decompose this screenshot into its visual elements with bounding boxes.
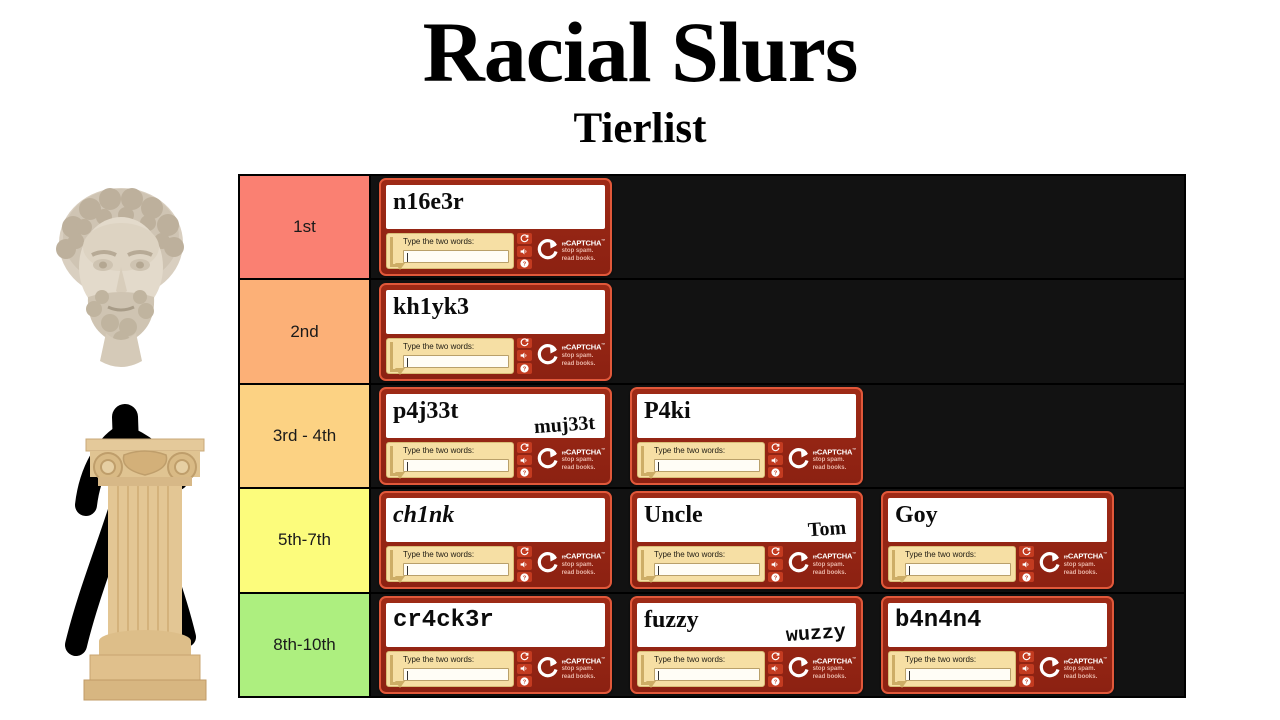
refresh-icon[interactable] xyxy=(517,233,532,244)
svg-text:?: ? xyxy=(1024,575,1028,581)
recaptcha-brand: reCAPTCHA™stop spam.read books. xyxy=(535,338,605,374)
captcha-prompt: Type the two words: xyxy=(403,550,509,560)
recaptcha-tagline-2: read books. xyxy=(562,465,605,472)
refresh-icon[interactable] xyxy=(1019,546,1034,557)
recaptcha-brand: reCAPTCHA™stop spam.read books. xyxy=(786,546,856,582)
captcha-button-column: ? xyxy=(1019,651,1034,687)
bust-head xyxy=(56,188,184,367)
svg-text:?: ? xyxy=(522,575,526,581)
recaptcha-brand: reCAPTCHA™stop spam.read books. xyxy=(786,442,856,478)
help-icon[interactable]: ? xyxy=(1019,572,1034,583)
recaptcha-brand-main: CAPTCHA xyxy=(566,238,601,247)
help-icon[interactable]: ? xyxy=(517,676,532,687)
captcha-prompt: Type the two words: xyxy=(905,655,1011,665)
help-icon[interactable]: ? xyxy=(768,572,783,583)
marble-bust-figure xyxy=(28,175,243,705)
trademark-icon: ™ xyxy=(601,656,605,661)
arrow-icon xyxy=(641,550,650,580)
trademark-icon: ™ xyxy=(1103,656,1107,661)
captcha-image: n16e3r xyxy=(386,185,605,229)
arrow-icon xyxy=(390,446,399,476)
arrow-icon xyxy=(390,655,399,685)
captcha-entry-area: Type the two words: xyxy=(386,233,514,269)
captcha-entry-area: Type the two words: xyxy=(386,546,514,582)
recaptcha-widget[interactable]: n16e3rType the two words:?reCAPTCHA™stop… xyxy=(379,178,612,276)
arrow-icon xyxy=(892,655,901,685)
captcha-button-column: ? xyxy=(768,651,783,687)
captcha-input[interactable] xyxy=(403,459,509,472)
recaptcha-tagline-1: stop spam. xyxy=(562,248,605,255)
captcha-prompt: Type the two words: xyxy=(654,655,760,665)
recaptcha-tagline-1: stop spam. xyxy=(1064,666,1107,673)
captcha-word-secondary: Tom xyxy=(807,517,847,542)
arrow-icon xyxy=(641,655,650,685)
recaptcha-tagline-2: read books. xyxy=(813,570,856,577)
captcha-button-column: ? xyxy=(517,442,532,478)
recaptcha-tagline-2: read books. xyxy=(1064,674,1107,681)
captcha-entry-area: Type the two words: xyxy=(386,338,514,374)
refresh-icon[interactable] xyxy=(517,546,532,557)
recaptcha-c-logo-icon xyxy=(536,344,560,368)
captcha-entry-area: Type the two words: xyxy=(637,546,765,582)
captcha-word-primary: cr4ck3r xyxy=(393,607,494,634)
captcha-entry-area: Type the two words: xyxy=(637,651,765,687)
captcha-button-column: ? xyxy=(1019,546,1034,582)
captcha-button-column: ? xyxy=(517,338,532,374)
recaptcha-widget[interactable]: p4j33tmuj33tType the two words:?reCAPTCH… xyxy=(379,387,612,485)
tier-items: p4j33tmuj33tType the two words:?reCAPTCH… xyxy=(371,385,1184,487)
tier-items: cr4ck3rType the two words:?reCAPTCHA™sto… xyxy=(371,594,1184,696)
audio-icon[interactable] xyxy=(517,455,532,466)
recaptcha-widget[interactable]: fuzzywuzzyType the two words:?reCAPTCHA™… xyxy=(630,596,863,694)
tier-row: 2ndkh1yk3Type the two words:?reCAPTCHA™s… xyxy=(240,280,1184,384)
svg-text:?: ? xyxy=(522,262,526,268)
captcha-image: kh1yk3 xyxy=(386,290,605,334)
tier-label[interactable]: 2nd xyxy=(240,280,371,382)
tier-label[interactable]: 1st xyxy=(240,176,371,278)
recaptcha-widget[interactable]: GoyType the two words:?reCAPTCHA™stop sp… xyxy=(881,491,1114,589)
recaptcha-brand-main: CAPTCHA xyxy=(817,552,852,561)
recaptcha-brand-main: CAPTCHA xyxy=(566,552,601,561)
arrow-icon xyxy=(390,237,399,267)
svg-text:?: ? xyxy=(773,679,777,685)
captcha-controls: Type the two words:?reCAPTCHA™stop spam.… xyxy=(637,651,856,687)
captcha-controls: Type the two words:?reCAPTCHA™stop spam.… xyxy=(386,442,605,478)
trademark-icon: ™ xyxy=(852,551,856,556)
refresh-icon[interactable] xyxy=(517,651,532,662)
page-subtitle: Tierlist xyxy=(0,100,1280,152)
captcha-input[interactable] xyxy=(654,459,760,472)
captcha-word-primary: n16e3r xyxy=(393,189,464,216)
recaptcha-brand-main: CAPTCHA xyxy=(566,656,601,665)
captcha-controls: Type the two words:?reCAPTCHA™stop spam.… xyxy=(888,546,1107,582)
audio-icon[interactable] xyxy=(1019,559,1034,570)
captcha-controls: Type the two words:?reCAPTCHA™stop spam.… xyxy=(386,651,605,687)
captcha-button-column: ? xyxy=(768,546,783,582)
recaptcha-brand: reCAPTCHA™stop spam.read books. xyxy=(1037,651,1107,687)
tierlist-screenshot: Racial Slurs Tierlist xyxy=(0,0,1280,720)
svg-text:?: ? xyxy=(522,366,526,372)
recaptcha-c-logo-icon xyxy=(536,552,560,576)
tier-items: n16e3rType the two words:?reCAPTCHA™stop… xyxy=(371,176,1184,278)
recaptcha-tagline-2: read books. xyxy=(562,570,605,577)
captcha-word-primary: fuzzy xyxy=(644,607,699,634)
recaptcha-brand-main: CAPTCHA xyxy=(566,343,601,352)
audio-icon[interactable] xyxy=(517,246,532,257)
captcha-controls: Type the two words:?reCAPTCHA™stop spam.… xyxy=(637,442,856,478)
trademark-icon: ™ xyxy=(601,551,605,556)
captcha-word-secondary: muj33t xyxy=(533,412,596,438)
captcha-controls: Type the two words:?reCAPTCHA™stop spam.… xyxy=(386,233,605,269)
trademark-icon: ™ xyxy=(1103,551,1107,556)
captcha-prompt: Type the two words: xyxy=(403,655,509,665)
captcha-entry-area: Type the two words: xyxy=(637,442,765,478)
captcha-prompt: Type the two words: xyxy=(654,446,760,456)
recaptcha-tagline-2: read books. xyxy=(562,256,605,263)
recaptcha-brand-main: CAPTCHA xyxy=(1068,552,1103,561)
tier-label[interactable]: 3rd - 4th xyxy=(240,385,371,487)
captcha-input[interactable] xyxy=(654,668,760,681)
recaptcha-c-logo-icon xyxy=(787,552,811,576)
recaptcha-c-logo-icon xyxy=(536,448,560,472)
recaptcha-tagline-1: stop spam. xyxy=(562,666,605,673)
audio-icon[interactable] xyxy=(768,559,783,570)
captcha-input[interactable] xyxy=(403,563,509,576)
captcha-prompt: Type the two words: xyxy=(403,446,509,456)
captcha-button-column: ? xyxy=(517,233,532,269)
recaptcha-c-logo-icon xyxy=(536,239,560,263)
recaptcha-brand: reCAPTCHA™stop spam.read books. xyxy=(1037,546,1107,582)
captcha-image: UncleTom xyxy=(637,498,856,542)
audio-icon[interactable] xyxy=(768,455,783,466)
recaptcha-brand: reCAPTCHA™stop spam.read books. xyxy=(535,442,605,478)
recaptcha-brand-main: CAPTCHA xyxy=(817,656,852,665)
help-icon[interactable]: ? xyxy=(517,467,532,478)
svg-text:?: ? xyxy=(773,575,777,581)
tier-items: kh1yk3Type the two words:?reCAPTCHA™stop… xyxy=(371,280,1184,382)
captcha-word-primary: kh1yk3 xyxy=(393,294,469,321)
trademark-icon: ™ xyxy=(601,342,605,347)
arrow-icon xyxy=(390,342,399,372)
captcha-image: b4n4n4 xyxy=(888,603,1107,647)
recaptcha-brand: reCAPTCHA™stop spam.read books. xyxy=(535,546,605,582)
recaptcha-c-logo-icon xyxy=(787,657,811,681)
audio-icon[interactable] xyxy=(517,664,532,675)
recaptcha-tagline-1: stop spam. xyxy=(813,562,856,569)
recaptcha-tagline-2: read books. xyxy=(813,465,856,472)
captcha-image: ch1nk xyxy=(386,498,605,542)
captcha-controls: Type the two words:?reCAPTCHA™stop spam.… xyxy=(637,546,856,582)
captcha-controls: Type the two words:?reCAPTCHA™stop spam.… xyxy=(386,338,605,374)
help-icon[interactable]: ? xyxy=(768,467,783,478)
svg-text:?: ? xyxy=(522,471,526,477)
refresh-icon[interactable] xyxy=(1019,651,1034,662)
captcha-button-column: ? xyxy=(517,546,532,582)
captcha-input[interactable] xyxy=(905,563,1011,576)
captcha-image: p4j33tmuj33t xyxy=(386,394,605,438)
help-icon[interactable]: ? xyxy=(768,676,783,687)
captcha-entry-area: Type the two words: xyxy=(888,651,1016,687)
captcha-image: fuzzywuzzy xyxy=(637,603,856,647)
recaptcha-widget[interactable]: UncleTomType the two words:?reCAPTCHA™st… xyxy=(630,491,863,589)
recaptcha-brand-main: CAPTCHA xyxy=(817,447,852,456)
recaptcha-tagline-2: read books. xyxy=(813,674,856,681)
tier-row: 5th-7thch1nkType the two words:?reCAPTCH… xyxy=(240,489,1184,593)
captcha-input[interactable] xyxy=(403,250,509,263)
tier-row: 8th-10thcr4ck3rType the two words:?reCAP… xyxy=(240,594,1184,696)
recaptcha-brand-main: CAPTCHA xyxy=(1068,656,1103,665)
arrow-icon xyxy=(892,550,901,580)
recaptcha-widget[interactable]: kh1yk3Type the two words:?reCAPTCHA™stop… xyxy=(379,283,612,381)
refresh-icon[interactable] xyxy=(768,442,783,453)
refresh-icon[interactable] xyxy=(517,442,532,453)
recaptcha-c-logo-icon xyxy=(787,448,811,472)
recaptcha-brand-main: CAPTCHA xyxy=(566,447,601,456)
help-icon[interactable]: ? xyxy=(517,259,532,270)
svg-text:?: ? xyxy=(522,679,526,685)
captcha-input[interactable] xyxy=(403,668,509,681)
captcha-word-primary: Goy xyxy=(895,502,938,529)
recaptcha-widget[interactable]: ch1nkType the two words:?reCAPTCHA™stop … xyxy=(379,491,612,589)
recaptcha-tagline-1: stop spam. xyxy=(813,666,856,673)
refresh-icon[interactable] xyxy=(768,651,783,662)
captcha-image: P4ki xyxy=(637,394,856,438)
tier-items: ch1nkType the two words:?reCAPTCHA™stop … xyxy=(371,489,1184,591)
trademark-icon: ™ xyxy=(601,238,605,243)
captcha-prompt: Type the two words: xyxy=(403,237,509,247)
page-title: Racial Slurs xyxy=(0,0,1280,100)
trademark-icon: ™ xyxy=(852,656,856,661)
tier-row: 3rd - 4thp4j33tmuj33tType the two words:… xyxy=(240,385,1184,489)
recaptcha-brand: reCAPTCHA™stop spam.read books. xyxy=(535,233,605,269)
captcha-entry-area: Type the two words: xyxy=(386,651,514,687)
captcha-input[interactable] xyxy=(403,355,509,368)
captcha-input[interactable] xyxy=(654,563,760,576)
recaptcha-tagline-1: stop spam. xyxy=(562,562,605,569)
captcha-word-primary: ch1nk xyxy=(393,502,454,529)
tier-label[interactable]: 8th-10th xyxy=(240,594,371,696)
captcha-controls: Type the two words:?reCAPTCHA™stop spam.… xyxy=(888,651,1107,687)
recaptcha-brand: reCAPTCHA™stop spam.read books. xyxy=(786,651,856,687)
help-icon[interactable]: ? xyxy=(1019,676,1034,687)
help-icon[interactable]: ? xyxy=(517,363,532,374)
captcha-word-primary: b4n4n4 xyxy=(895,607,981,634)
captcha-entry-area: Type the two words: xyxy=(888,546,1016,582)
refresh-icon[interactable] xyxy=(517,338,532,349)
help-icon[interactable]: ? xyxy=(517,572,532,583)
captcha-word-primary: p4j33t xyxy=(393,398,458,425)
recaptcha-widget[interactable]: b4n4n4Type the two words:?reCAPTCHA™stop… xyxy=(881,596,1114,694)
tier-row: 1stn16e3rType the two words:?reCAPTCHA™s… xyxy=(240,176,1184,280)
arrow-icon xyxy=(390,550,399,580)
recaptcha-tagline-1: stop spam. xyxy=(562,353,605,360)
captcha-prompt: Type the two words: xyxy=(654,550,760,560)
audio-icon[interactable] xyxy=(517,350,532,361)
captcha-image: Goy xyxy=(888,498,1107,542)
arrow-icon xyxy=(641,446,650,476)
tier-grid: 1stn16e3rType the two words:?reCAPTCHA™s… xyxy=(238,174,1186,698)
captcha-image: cr4ck3r xyxy=(386,603,605,647)
captcha-prompt: Type the two words: xyxy=(403,342,509,352)
recaptcha-c-logo-icon xyxy=(1038,552,1062,576)
captcha-word-primary: Uncle xyxy=(644,502,703,529)
recaptcha-brand: reCAPTCHA™stop spam.read books. xyxy=(535,651,605,687)
audio-icon[interactable] xyxy=(517,559,532,570)
captcha-word-secondary: wuzzy xyxy=(785,621,846,647)
svg-text:?: ? xyxy=(773,471,777,477)
header: Racial Slurs Tierlist xyxy=(0,0,1280,152)
captcha-prompt: Type the two words: xyxy=(905,550,1011,560)
recaptcha-widget[interactable]: P4kiType the two words:?reCAPTCHA™stop s… xyxy=(630,387,863,485)
trademark-icon: ™ xyxy=(601,447,605,452)
trademark-icon: ™ xyxy=(852,447,856,452)
svg-text:?: ? xyxy=(1024,679,1028,685)
captcha-entry-area: Type the two words: xyxy=(386,442,514,478)
recaptcha-tagline-2: read books. xyxy=(562,361,605,368)
captcha-input[interactable] xyxy=(905,668,1011,681)
refresh-icon[interactable] xyxy=(768,546,783,557)
captcha-word-primary: P4ki xyxy=(644,398,691,425)
recaptcha-tagline-1: stop spam. xyxy=(562,457,605,464)
tier-label[interactable]: 5th-7th xyxy=(240,489,371,591)
captcha-button-column: ? xyxy=(768,442,783,478)
recaptcha-tagline-2: read books. xyxy=(562,674,605,681)
captcha-button-column: ? xyxy=(517,651,532,687)
recaptcha-c-logo-icon xyxy=(1038,657,1062,681)
audio-icon[interactable] xyxy=(1019,664,1034,675)
recaptcha-tagline-2: read books. xyxy=(1064,570,1107,577)
recaptcha-widget[interactable]: cr4ck3rType the two words:?reCAPTCHA™sto… xyxy=(379,596,612,694)
recaptcha-c-logo-icon xyxy=(536,657,560,681)
captcha-controls: Type the two words:?reCAPTCHA™stop spam.… xyxy=(386,546,605,582)
recaptcha-tagline-1: stop spam. xyxy=(813,457,856,464)
recaptcha-tagline-1: stop spam. xyxy=(1064,562,1107,569)
audio-icon[interactable] xyxy=(768,664,783,675)
